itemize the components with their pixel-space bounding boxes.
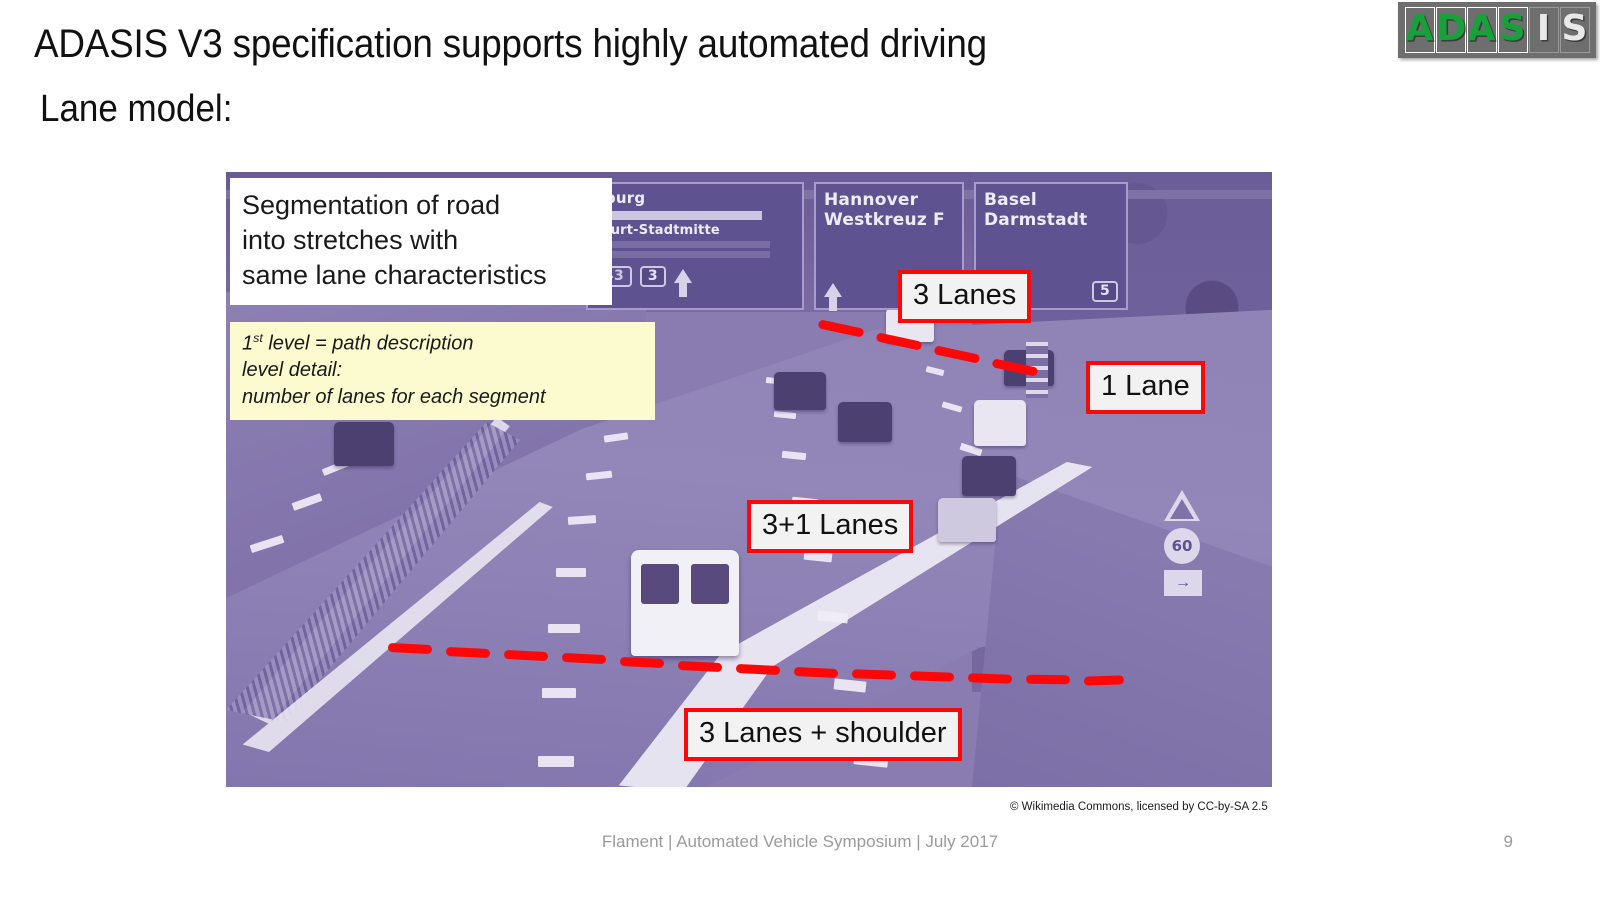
logo-letter-s2: S xyxy=(1560,7,1590,53)
vehicle-van xyxy=(974,400,1026,446)
gantry-sign-left-bar2 xyxy=(596,241,770,248)
gantry-sign-right-line2: Darmstadt xyxy=(984,210,1118,230)
page-title: ADASIS V3 specification supports highly … xyxy=(34,22,987,67)
vehicle-car xyxy=(334,422,394,466)
level-detail-line2: level detail: xyxy=(242,357,643,384)
lane-dash xyxy=(542,688,576,698)
lane-label-1-lane: 1 Lane xyxy=(1086,361,1205,414)
segmentation-callout-line2: into stretches with xyxy=(242,223,600,258)
logo-letter-s1: S xyxy=(1498,7,1528,53)
page-number: 9 xyxy=(1504,832,1513,852)
gantry-sign-left-line2: kfurt-Stadtmitte xyxy=(596,223,794,238)
level-detail-ordinal: 1 xyxy=(242,333,253,355)
page-subtitle: Lane model: xyxy=(40,88,232,131)
direction-arrow-icon: → xyxy=(1164,570,1202,596)
segmentation-callout-line1: Segmentation of road xyxy=(242,188,600,223)
logo-letter-a2: A xyxy=(1467,7,1497,53)
vehicle-white-van xyxy=(631,550,739,656)
vehicle-car xyxy=(774,372,826,410)
level-detail-callout: 1st level = path description level detai… xyxy=(230,322,655,420)
gantry-sign-left: zburg kfurt-Stadtmitte 43 3 xyxy=(586,182,804,310)
level-detail-line1: 1st level = path description xyxy=(242,330,643,357)
image-credit: © Wikimedia Commons, licensed by CC-by-S… xyxy=(1010,801,1268,813)
speed-limit-sign: 60 xyxy=(1164,528,1200,564)
gantry-sign-center-line2: Westkreuz F xyxy=(824,210,954,230)
straight-arrow-icon xyxy=(824,283,842,297)
logo-letter-a1: A xyxy=(1405,7,1435,53)
lane-dash xyxy=(556,568,586,577)
segment-divider-dash xyxy=(852,669,896,680)
route-number-5: 5 xyxy=(1092,281,1118,302)
gantry-sign-right-line1: Basel xyxy=(984,190,1118,210)
logo-letters: A D A S I S xyxy=(1402,4,1593,56)
straight-arrow-icon xyxy=(674,269,692,283)
logo-letter-i: I xyxy=(1529,7,1559,53)
segment-divider-dash xyxy=(1084,675,1124,685)
segmentation-callout-line3: same lane characteristics xyxy=(242,258,600,293)
segment-divider-dash xyxy=(818,319,865,337)
segmentation-callout: Segmentation of road into stretches with… xyxy=(230,178,612,305)
lane-label-3-lanes: 3 Lanes xyxy=(898,270,1031,323)
gantry-sign-left-bar xyxy=(596,211,762,220)
gantry-sign-center-line1: Hannover xyxy=(824,190,954,210)
direction-sign: → xyxy=(1164,570,1202,596)
logo-letter-d: D xyxy=(1436,7,1466,53)
vehicle-car xyxy=(838,402,892,442)
segment-divider-dash xyxy=(968,673,1012,684)
adasis-logo: A D A S I S xyxy=(1398,2,1596,58)
lane-label-3-plus-1-lanes: 3+1 Lanes xyxy=(747,500,913,553)
level-detail-line3: number of lanes for each segment xyxy=(242,384,643,411)
level-detail-ordinal-suffix: st xyxy=(253,331,263,345)
lane-label-3-lanes-shoulder: 3 Lanes + shoulder xyxy=(684,708,962,761)
lane-dash xyxy=(538,756,574,767)
vehicle-car xyxy=(938,498,996,542)
warning-triangle-icon xyxy=(1164,490,1200,521)
route-number-3: 3 xyxy=(640,266,666,287)
curve-warning-sign xyxy=(1164,490,1200,521)
level-detail-line1-rest: level = path description xyxy=(263,333,474,355)
segment-divider-dash xyxy=(1026,675,1070,685)
gantry-sign-left-line1: zburg xyxy=(596,190,794,208)
vehicle-car xyxy=(962,456,1016,496)
slide-footer: Flament | Automated Vehicle Symposium | … xyxy=(0,832,1600,852)
segment-divider-dash xyxy=(910,671,954,682)
lane-dash xyxy=(548,624,580,633)
gantry-sign-left-bar3 xyxy=(596,251,770,258)
speed-limit-value: 60 xyxy=(1164,528,1200,564)
